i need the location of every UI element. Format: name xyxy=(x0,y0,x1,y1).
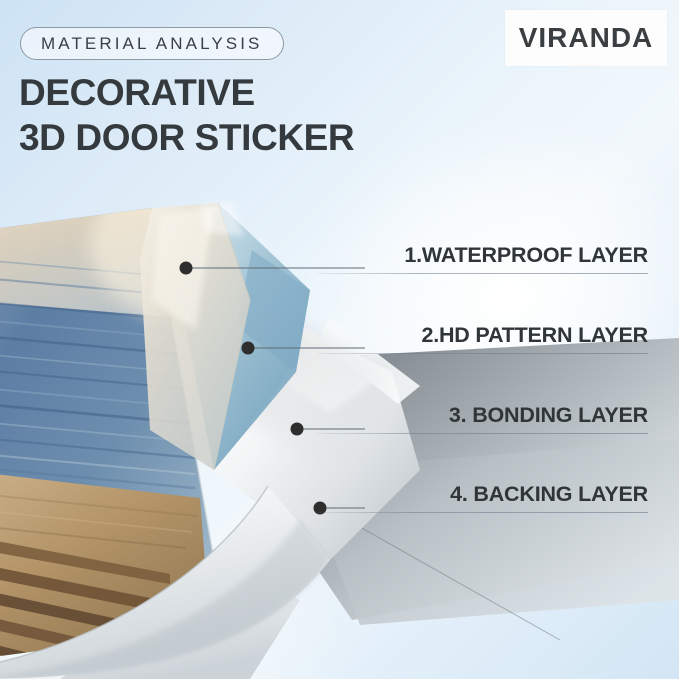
material-analysis-infographic: MATERIAL ANALYSIS DECORATIVE 3D DOOR STI… xyxy=(0,0,679,679)
leader-dot-2 xyxy=(242,342,255,355)
callout-4-underline xyxy=(318,512,648,513)
callout-label-4: 4. BACKING LAYER xyxy=(318,482,648,513)
title-line-1: DECORATIVE xyxy=(19,70,449,115)
callout-label-1: 1.WATERPROOF LAYER xyxy=(318,243,648,274)
leader-dot-1 xyxy=(180,262,193,275)
callout-3-text: 3. BONDING LAYER xyxy=(318,403,648,433)
brand-logo-text: VIRANDA xyxy=(519,22,654,54)
callout-2-text: 2.HD PATTERN LAYER xyxy=(318,323,648,353)
callout-3-underline xyxy=(318,433,648,434)
callout-label-3: 3. BONDING LAYER xyxy=(318,403,648,434)
leader-dot-3 xyxy=(291,423,304,436)
callout-4-text: 4. BACKING LAYER xyxy=(318,482,648,512)
callout-1-underline xyxy=(318,273,648,274)
badge-label: MATERIAL ANALYSIS xyxy=(41,34,263,54)
callout-1-text: 1.WATERPROOF LAYER xyxy=(318,243,648,273)
brand-logo: VIRANDA xyxy=(505,10,667,66)
title-line-2: 3D DOOR STICKER xyxy=(19,115,449,160)
material-analysis-badge: MATERIAL ANALYSIS xyxy=(20,27,284,60)
curl-apex-highlight xyxy=(200,202,244,236)
page-title: DECORATIVE 3D DOOR STICKER xyxy=(19,70,449,160)
callout-2-underline xyxy=(318,353,648,354)
callout-label-2: 2.HD PATTERN LAYER xyxy=(318,323,648,354)
